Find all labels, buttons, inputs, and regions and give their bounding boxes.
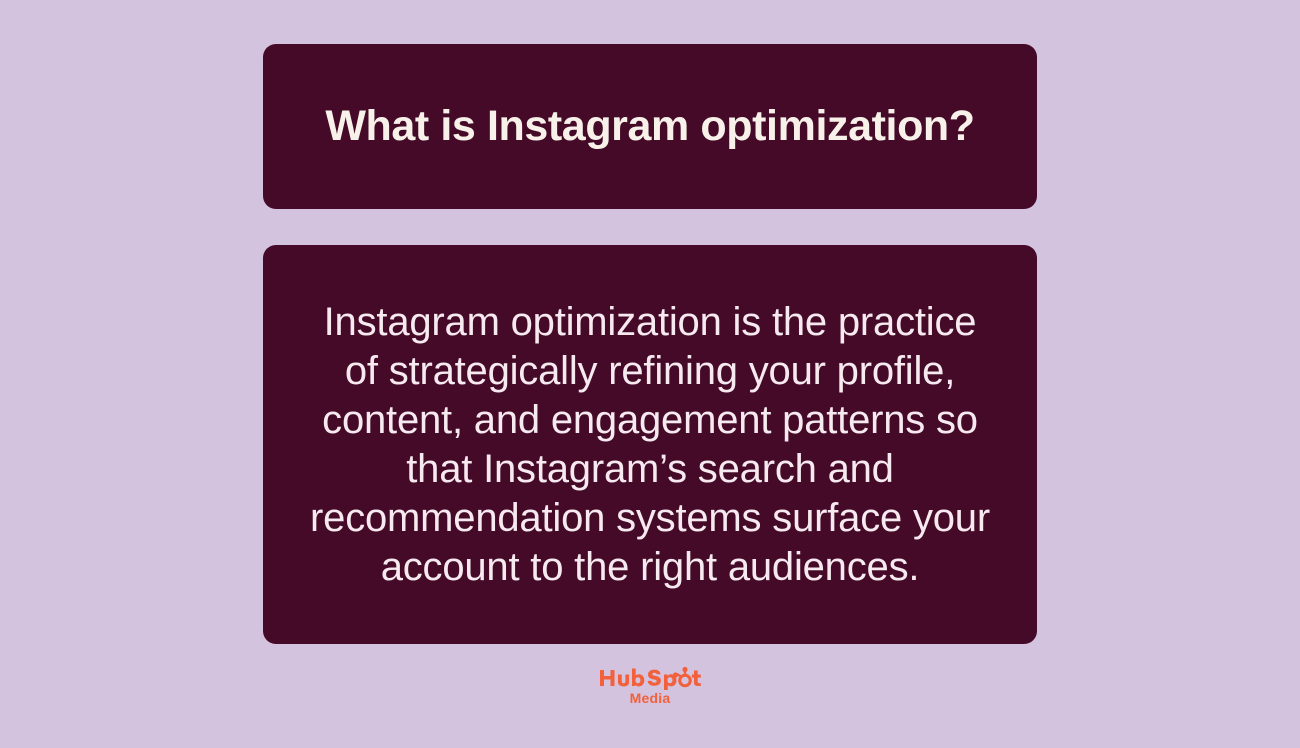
body-paragraph: Instagram optimization is the practice o…: [303, 298, 997, 592]
slide-canvas: What is Instagram optimization? Instagra…: [0, 0, 1300, 748]
title-card: What is Instagram optimization?: [263, 44, 1037, 209]
logo-sub-label: Media: [630, 691, 671, 705]
page-title: What is Instagram optimization?: [325, 103, 974, 150]
hubspot-media-logo: Media: [599, 666, 701, 705]
hubspot-wordmark-icon: [599, 666, 701, 690]
body-card: Instagram optimization is the practice o…: [263, 245, 1037, 644]
